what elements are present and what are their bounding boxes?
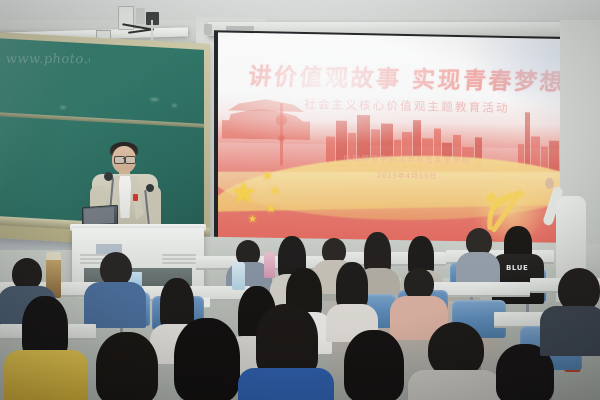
speaker-glasses-right-lens — [125, 156, 136, 164]
standing-person-hand — [545, 178, 554, 189]
screen-tint — [218, 32, 596, 249]
electrical-conduit-secondary — [136, 8, 145, 24]
microphone-icon-secondary — [146, 184, 154, 192]
chalk-smudge — [150, 98, 159, 101]
housing-end-cap-left — [204, 24, 212, 35]
speaker-glasses-bridge — [123, 158, 126, 159]
thermos-cap — [46, 252, 61, 260]
chalk-smudge — [60, 106, 66, 109]
chalk-smudge — [172, 104, 177, 107]
classroom-photo: www.photo.com — [0, 0, 600, 400]
chalkboard-watermark: www.photo.com — [5, 52, 90, 74]
water-bottle — [264, 252, 275, 278]
shirt-logo-text: BLUE — [506, 264, 528, 272]
water-bottle — [232, 262, 245, 290]
laptop-screen — [84, 207, 114, 225]
speaker-lapel-badge — [133, 194, 138, 201]
projector-screen: ★ ★ ★ ★ ★ 讲价值观故事 实现青春梦想 社会主义核心价值观主题教育活动 … — [218, 32, 596, 249]
microphone-icon — [104, 172, 113, 181]
